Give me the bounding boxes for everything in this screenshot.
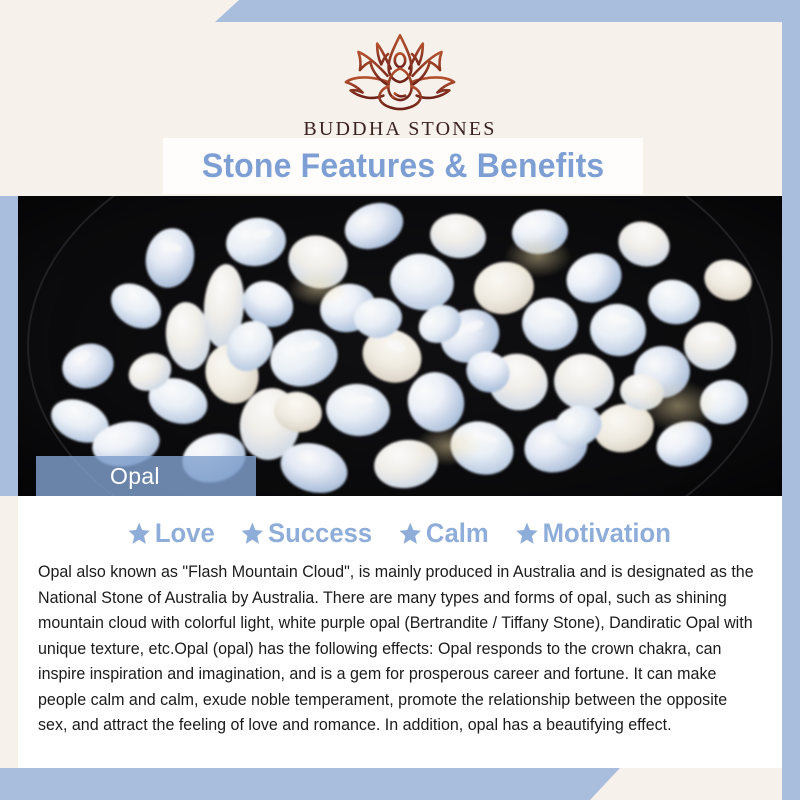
page-title-text: Stone Features & Benefits <box>202 147 605 186</box>
left-edge-decoration <box>0 196 18 496</box>
description-panel: Love Success Calm <box>18 496 782 768</box>
page-title: Stone Features & Benefits <box>163 138 643 194</box>
description-text: Opal also known as "Flash Mountain Cloud… <box>38 560 755 739</box>
stone-photo: Opal <box>18 196 782 496</box>
star-icon <box>127 521 151 546</box>
infographic-page: BUDDHA STONES Stone Features & Benefits <box>0 0 800 800</box>
benefit-label: Motivation <box>542 518 670 549</box>
bottom-banner-decoration <box>0 768 620 800</box>
benefit-label: Success <box>268 518 372 549</box>
benefit-item-motivation: Motivation <box>515 518 671 549</box>
benefit-item-calm: Calm <box>398 518 488 549</box>
stone-name-text: Opal <box>110 463 160 490</box>
benefit-label: Love <box>155 518 215 549</box>
brand-logo: BUDDHA STONES <box>18 28 782 141</box>
top-banner-decoration <box>215 0 800 22</box>
stone-name-label: Opal <box>36 456 256 496</box>
right-edge-decoration <box>782 0 800 800</box>
benefit-item-success: Success <box>241 518 373 549</box>
lotus-meditation-icon <box>322 28 478 116</box>
star-icon <box>241 521 265 546</box>
star-icon <box>515 521 539 546</box>
benefit-item-love: Love <box>127 518 214 549</box>
star-icon <box>398 521 422 546</box>
benefit-label: Calm <box>426 518 489 549</box>
benefits-row: Love Success Calm <box>18 518 782 549</box>
